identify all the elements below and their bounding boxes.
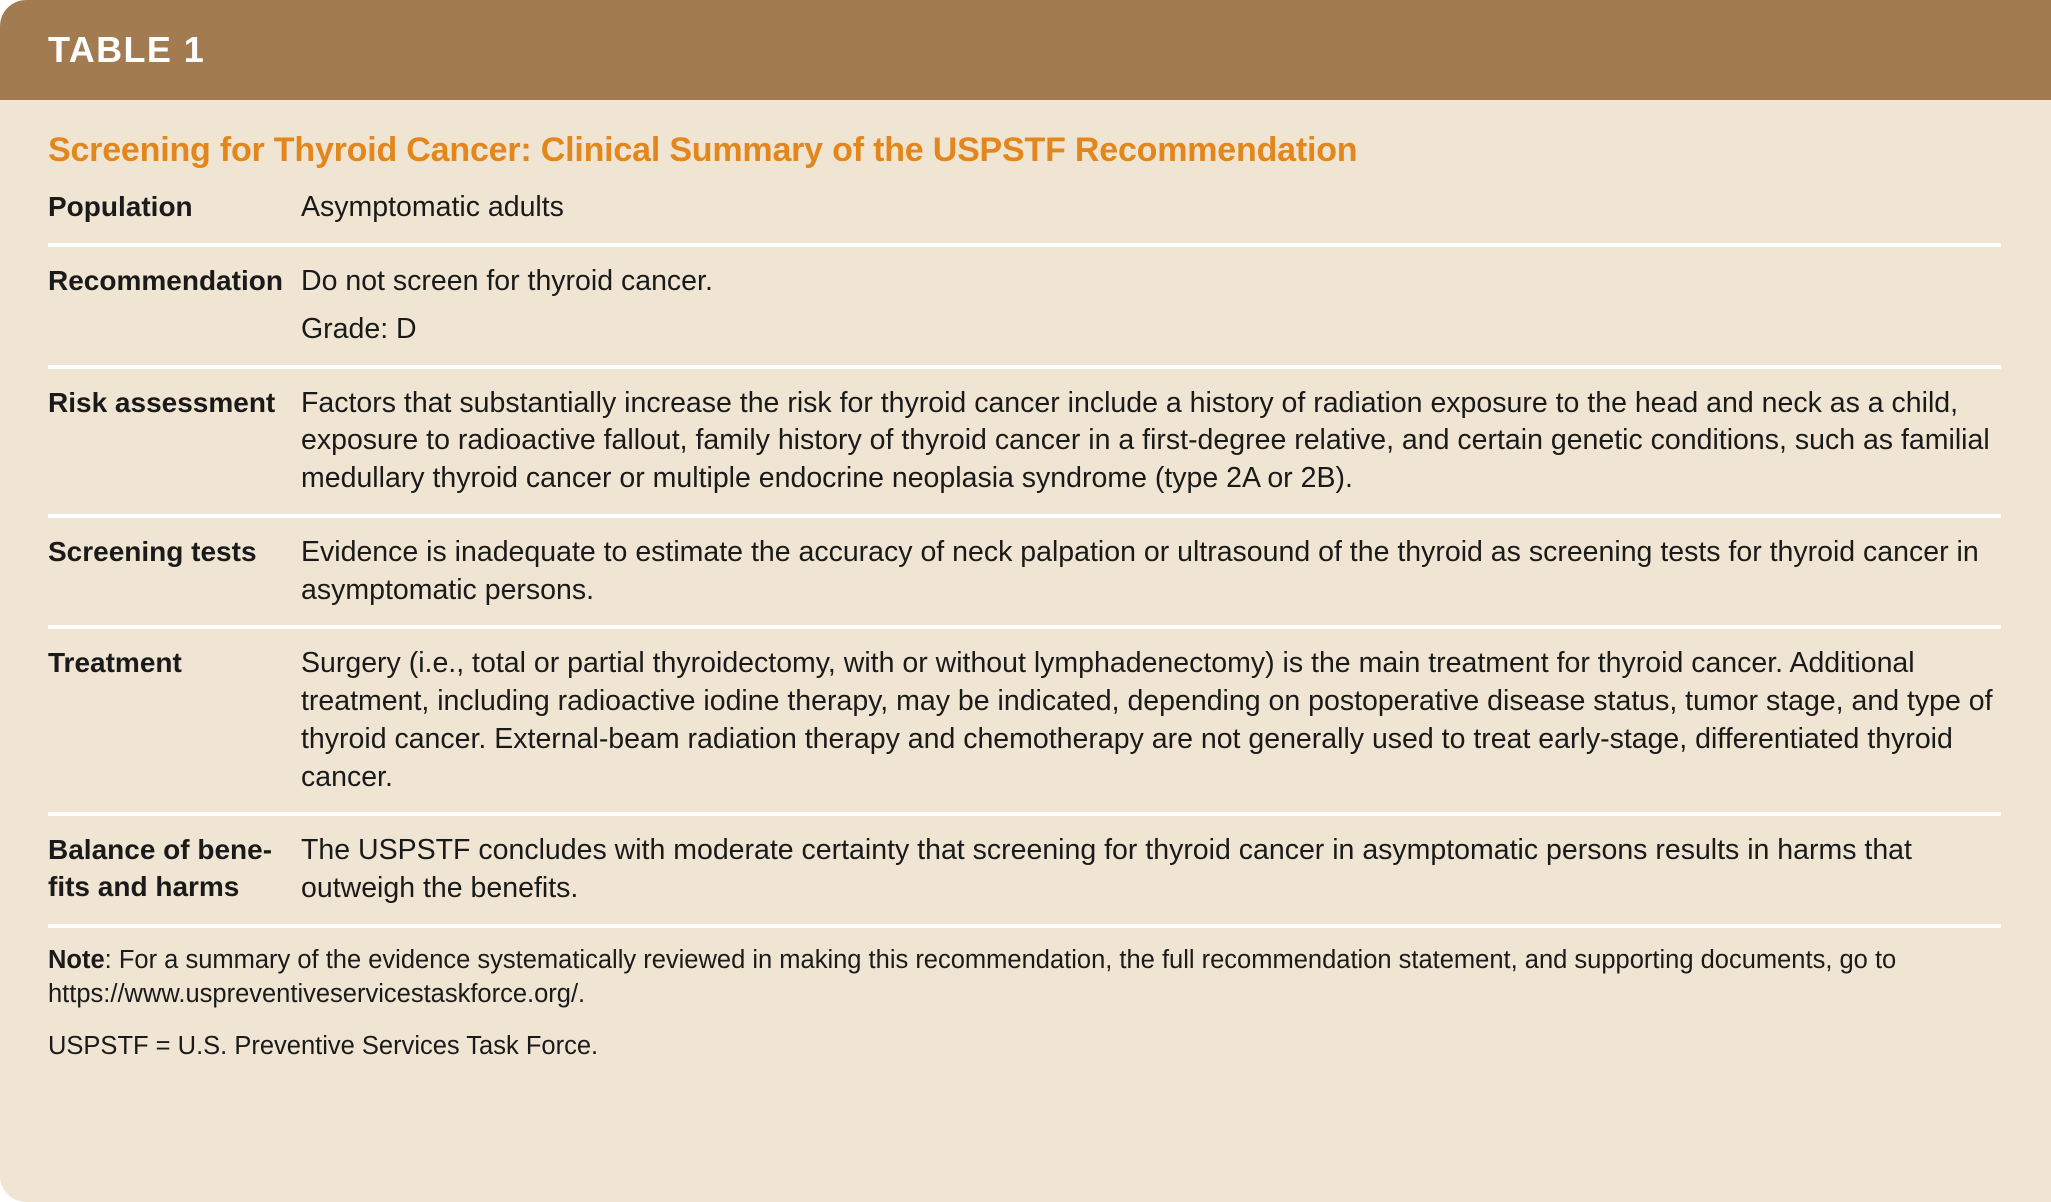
note-lead-label: Note [48, 946, 105, 974]
row-paragraph: Asymptomatic adults [301, 189, 2001, 227]
table-row: PopulationAsymptomatic adults [48, 189, 2001, 243]
note-body-text: : For a summary of the evidence systemat… [48, 946, 1896, 1008]
row-paragraph: Surgery (i.e., total or partial thyroide… [301, 645, 2001, 796]
row-paragraph: Evidence is inadequate to estimate the a… [301, 534, 2001, 610]
row-paragraph: Factors that substantially increase the … [301, 385, 2001, 498]
note-line: Note: For a summary of the evidence syst… [48, 944, 2001, 1012]
table-row: TreatmentSurgery (i.e., total or partial… [48, 625, 2001, 812]
abbreviation-line: USPSTF = U.S. Preventive Services Task F… [48, 1030, 2001, 1064]
row-value: Factors that substantially increase the … [301, 385, 2001, 498]
table-number-label: TABLE 1 [48, 29, 205, 71]
table-rows: PopulationAsymptomatic adultsRecommendat… [48, 189, 2001, 924]
row-paragraph: The USPSTF concludes with moderate certa… [301, 832, 2001, 908]
row-value: Do not screen for thyroid cancer.Grade: … [301, 263, 2001, 349]
row-label: Population [48, 189, 301, 225]
row-value: The USPSTF concludes with moderate certa… [301, 832, 2001, 908]
row-paragraph: Grade: D [301, 311, 2001, 349]
row-paragraph: Do not screen for thyroid cancer. [301, 263, 2001, 301]
table-row: Risk assessmentFactors that substantiall… [48, 365, 2001, 514]
row-label: Risk assessment [48, 385, 301, 421]
row-label: Treatment [48, 645, 301, 681]
row-label: Recommendation [48, 263, 301, 299]
table-header-bar: TABLE 1 [0, 0, 2051, 100]
table-card: TABLE 1 Screening for Thyroid Cancer: Cl… [0, 0, 2051, 1202]
table-row: Balance of bene-fits and harmsThe USPSTF… [48, 812, 2001, 924]
row-label: Screening tests [48, 534, 301, 570]
row-value: Surgery (i.e., total or partial thyroide… [301, 645, 2001, 796]
row-value: Asymptomatic adults [301, 189, 2001, 227]
table-row: RecommendationDo not screen for thyroid … [48, 243, 2001, 365]
table-footnotes: Note: For a summary of the evidence syst… [48, 924, 2001, 1064]
table-body: Screening for Thyroid Cancer: Clinical S… [0, 100, 2051, 1064]
table-title: Screening for Thyroid Cancer: Clinical S… [48, 100, 2001, 189]
table-row: Screening testsEvidence is inadequate to… [48, 514, 2001, 626]
row-value: Evidence is inadequate to estimate the a… [301, 534, 2001, 610]
row-label: Balance of bene-fits and harms [48, 832, 301, 905]
